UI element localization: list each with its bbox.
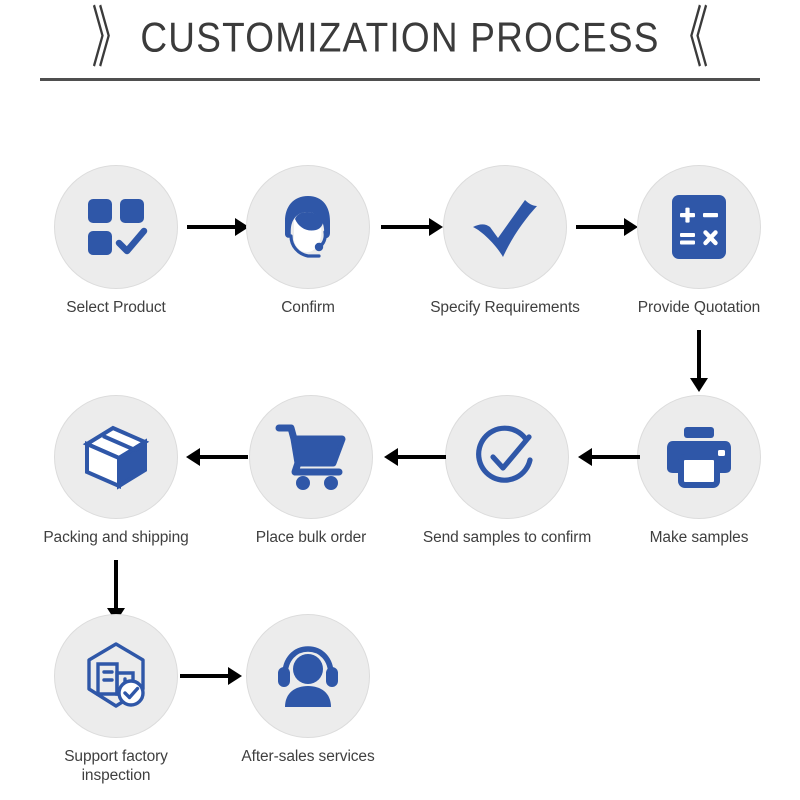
arrow-send-to-bulk-order — [384, 448, 446, 466]
customer-support-icon — [272, 641, 344, 711]
step-circle — [54, 395, 178, 519]
flow-step-provide-quotation[interactable]: Provide Quotation — [624, 165, 774, 317]
package-box-icon — [79, 422, 153, 492]
step-circle — [246, 165, 370, 289]
arrow-shaft — [180, 674, 228, 678]
page-header: 》 CUSTOMIZATION PROCESS 《 — [0, 0, 800, 92]
step-circle — [54, 165, 178, 289]
step-label: After-sales services — [213, 747, 403, 766]
arrow-shaft — [398, 455, 446, 459]
arrow-shaft — [114, 560, 118, 608]
flow-step-select-product[interactable]: Select Product — [41, 165, 191, 317]
flow-step-make-samples[interactable]: Make samples — [624, 395, 774, 547]
arrow-shaft — [697, 330, 701, 378]
flow-step-confirm[interactable]: Confirm — [233, 165, 383, 317]
page-title: CUSTOMIZATION PROCESS — [140, 14, 659, 61]
flow-step-send-samples-to-confirm[interactable]: Send samples to confirm — [432, 395, 582, 547]
step-label: Place bulk order — [216, 528, 406, 547]
circle-check-icon — [469, 419, 545, 495]
flow-step-support-factory-inspection[interactable]: Support factory inspection — [41, 614, 191, 785]
calculator-icon — [667, 191, 731, 263]
grid-check-icon — [82, 193, 150, 261]
step-circle — [445, 395, 569, 519]
step-label: Provide Quotation — [604, 298, 794, 317]
chevron-left-decoration: 》 — [92, 5, 131, 72]
checkmark-icon — [467, 189, 543, 265]
step-circle — [54, 614, 178, 738]
step-circle — [637, 165, 761, 289]
arrow-shaft — [381, 225, 429, 229]
step-circle — [249, 395, 373, 519]
factory-inspection-shield-icon — [79, 639, 153, 713]
step-label: Confirm — [233, 298, 383, 317]
step-circle — [637, 395, 761, 519]
headset-agent-icon — [271, 190, 345, 264]
step-circle — [246, 614, 370, 738]
step-label: Packing and shipping — [21, 528, 211, 547]
arrow-shaft — [187, 225, 235, 229]
flow-step-place-bulk-order[interactable]: Place bulk order — [236, 395, 386, 547]
step-label: Select Product — [41, 298, 191, 317]
step-label: Send samples to confirm — [412, 528, 602, 547]
title-divider — [40, 78, 760, 81]
printer-icon — [663, 424, 735, 490]
flow-step-after-sales-services[interactable]: After-sales services — [233, 614, 383, 766]
arrow-shaft — [200, 455, 248, 459]
title-row: 》 CUSTOMIZATION PROCESS 《 — [0, 8, 800, 68]
arrow-bulk-order-to-packing — [186, 448, 248, 466]
arrow-quotation-to-make-samples — [690, 330, 708, 392]
step-label: Specify Requirements — [410, 298, 600, 317]
chevron-right-decoration: 《 — [669, 5, 708, 72]
shopping-cart-icon — [274, 422, 348, 492]
flow-step-specify-requirements[interactable]: Specify Requirements — [430, 165, 580, 317]
arrow-packing-to-inspection — [107, 560, 125, 622]
arrow-make-samples-to-send — [578, 448, 640, 466]
step-circle — [443, 165, 567, 289]
flow-step-packing-and-shipping[interactable]: Packing and shipping — [41, 395, 191, 547]
arrow-shaft — [592, 455, 640, 459]
arrow-head-down-icon — [690, 378, 708, 392]
arrow-head-left-icon — [384, 448, 398, 466]
arrow-shaft — [576, 225, 624, 229]
step-label: Support factory inspection — [21, 747, 211, 785]
step-label: Make samples — [624, 528, 774, 547]
